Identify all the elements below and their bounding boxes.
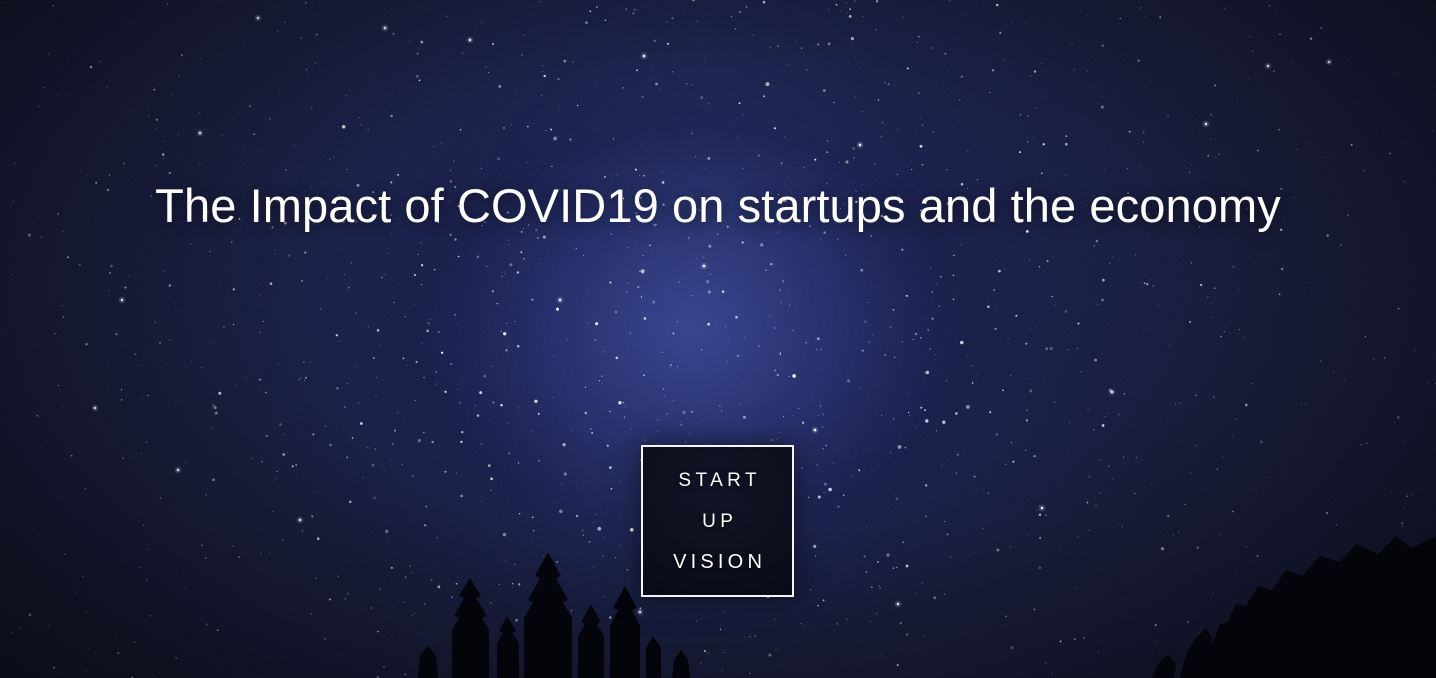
presentation-slide: The Impact of COVID19 on startups and th… <box>0 0 1436 678</box>
start-up-vision-logo[interactable]: START UP VISION <box>641 445 794 597</box>
logo-line-up: UP <box>698 512 738 531</box>
logo-line-start: START <box>674 471 761 490</box>
page-title: The Impact of COVID19 on startups and th… <box>60 178 1376 233</box>
logo-line-vision: VISION <box>669 552 766 572</box>
title-container: The Impact of COVID19 on startups and th… <box>0 178 1436 233</box>
